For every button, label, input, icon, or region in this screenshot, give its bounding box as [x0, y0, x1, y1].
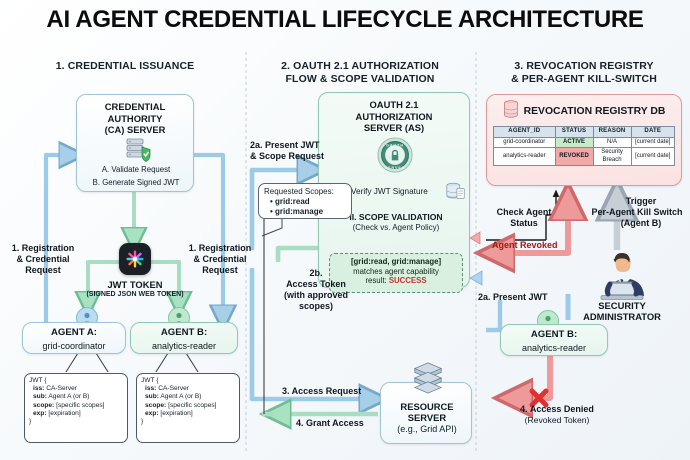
svg-text:OAUTH: OAUTH [386, 143, 404, 147]
ca-step-a: A. Validate Request [77, 165, 195, 174]
agent-b-left-box[interactable]: AGENT B: analytics-reader [130, 322, 238, 354]
jwt-b-exp-key: exp: [145, 410, 159, 417]
column-heading-revocation-line2: & PER-AGENT KILL-SWITCH [486, 73, 682, 86]
cell-reason-1-line2: Breach [595, 157, 630, 165]
label-present-jwt-right: 2a. Present JWT [478, 292, 548, 303]
table-header-row: AGENT_ID STATUS REASON DATE [494, 127, 675, 138]
result-status: SUCCESS [389, 276, 427, 285]
label-present-jwt-scope-request: 2a. Present JWT & Scope Request [250, 140, 362, 162]
column-heading-credential-issuance: 1. CREDENTIAL ISSUANCE [30, 60, 220, 73]
ca-step-b: B. Generate Signed JWT [77, 178, 195, 187]
jwt-b-sub-val: Agent A (or B) [160, 393, 201, 400]
jwt-a-iss-key: iss: [33, 385, 44, 392]
registry-title: REVOCATION REGISTRY DB [524, 106, 666, 117]
jwt-b-sub-key: sub: [145, 393, 159, 400]
revocation-registry-table[interactable]: AGENT_ID STATUS REASON DATE grid-coordin… [493, 126, 675, 166]
agent-a-subtitle: grid-coordinator [23, 341, 125, 351]
requested-scope-0: • grid:read [264, 197, 346, 207]
jwt-a-sub-key: sub: [33, 393, 47, 400]
jwt-a-exp-val: [expiration] [48, 410, 80, 417]
jwt-open-a: JWT { [29, 377, 123, 385]
agent-b-left-title: AGENT B: [131, 327, 237, 339]
agent-b-left-jwt-claims: JWT { iss: CA-Server sub: Agent A (or B)… [136, 373, 240, 443]
result-scopes: [grid:read, grid:manage] [332, 257, 460, 267]
ca-title: CREDENTIAL AUTHORITY (CA) SERVER [81, 101, 189, 136]
jwt-token-subtitle: (SIGNED JSON WEB TOKEN) [65, 291, 205, 298]
agent-b-right-subtitle: analytics-reader [501, 343, 607, 353]
agent-a-box[interactable]: AGENT A: grid-coordinator [22, 322, 126, 354]
jwt-token-title: JWT TOKEN [75, 279, 195, 290]
jwt-a-scope-key: scope: [33, 402, 54, 409]
cell-agent-id-1: analytics-reader [494, 148, 556, 166]
th-agent-id: AGENT_ID [494, 127, 556, 138]
label-check-agent-status: Check Agent Status [488, 207, 560, 229]
column-heading-oauth: 2. OAUTH 2.1 AUTHORIZATION FLOW & SCOPE … [252, 60, 468, 86]
requested-scopes-title: Requested Scopes: [264, 187, 346, 197]
cell-reason-0: N/A [593, 137, 631, 148]
agent-b-left-subtitle: analytics-reader [131, 341, 237, 351]
jwt-a-sub-val: Agent A (or B) [48, 393, 89, 400]
jwt-a-scope-val: [specific scopes] [56, 402, 104, 409]
column-heading-revocation: 3. REVOCATION REGISTRY & PER-AGENT KILL-… [486, 60, 682, 86]
agent-b-right-box[interactable]: AGENT B: analytics-reader [500, 324, 608, 356]
column-heading-oauth-line2: FLOW & SCOPE VALIDATION [252, 73, 468, 86]
column-heading-oauth-line1: 2. OAUTH 2.1 AUTHORIZATION [252, 60, 468, 73]
cell-date-1: [current date] [631, 148, 674, 166]
diagram-canvas: AI AGENT CREDENTIAL LIFECYCLE ARCHITECTU… [0, 0, 690, 460]
label-registration-left: 1. Registration & Credential Request [6, 243, 80, 276]
cell-reason-1-line1: Security [595, 149, 630, 157]
jwt-open-b: JWT { [141, 377, 235, 385]
column-heading-revocation-line1: 3. REVOCATION REGISTRY [486, 60, 682, 73]
resource-server-subtitle: (e.g., Grid API) [381, 424, 473, 434]
person-at-laptop-icon [590, 252, 652, 307]
jwt-b-iss-key: iss: [145, 385, 156, 392]
resource-server-box[interactable]: RESOURCE SERVER (e.g., Grid API) [380, 382, 472, 444]
jwt-close-b: } [141, 418, 235, 426]
agent-a-title: AGENT A: [23, 327, 125, 339]
server-shield-icon [123, 137, 153, 168]
cell-agent-id-0: grid-coordinator [494, 137, 556, 148]
page-title: AI AGENT CREDENTIAL LIFECYCLE ARCHITECTU… [0, 6, 690, 34]
jwt-b-scope-key: scope: [145, 402, 166, 409]
oauth-lock-badge-icon: OAUTH SERVER [377, 137, 413, 178]
label-access-request: 3. Access Request [282, 386, 361, 397]
security-administrator-label: SECURITY ADMINISTRATOR [562, 300, 682, 322]
jwt-a-exp-key: exp: [33, 410, 47, 417]
label-access-token: 2b. Access Token (with approved scopes) [268, 268, 364, 312]
table-row[interactable]: analytics-reader REVOKED Security Breach… [494, 148, 675, 166]
table-row[interactable]: grid-coordinator ACTIVE N/A [current dat… [494, 137, 675, 148]
th-date: DATE [631, 127, 674, 138]
label-grant-access: 4. Grant Access [296, 418, 364, 429]
requested-scopes-callout: Requested Scopes: • grid:read • grid:man… [258, 183, 352, 219]
label-trigger-kill-switch: Trigger Per-Agent Kill Switch (Agent B) [592, 196, 690, 229]
access-denied-line1: 4. Access Denied [492, 404, 622, 415]
label-agent-revoked: Agent Revoked [492, 240, 558, 251]
jwt-token-icon [119, 243, 151, 275]
agent-b-right-title: AGENT B: [501, 329, 607, 341]
th-reason: REASON [593, 127, 631, 138]
label-access-denied: 4. Access Denied (Revoked Token) [492, 404, 622, 425]
jwt-close-a: } [29, 418, 123, 426]
status-badge-revoked: REVOKED [555, 148, 593, 166]
oauth-title: OAUTH 2.1 AUTHORIZATION SERVER (AS) [319, 99, 469, 134]
th-status: STATUS [555, 127, 593, 138]
oauth-step-2-subtitle: (Check vs. Agent Policy) [323, 223, 469, 232]
cell-reason-1: Security Breach [593, 148, 631, 166]
access-denied-line2: (Revoked Token) [492, 415, 622, 425]
stacked-server-icon [409, 361, 447, 400]
jwt-a-iss-val: CA-Server [46, 385, 77, 392]
credential-authority-server-box[interactable]: CREDENTIAL AUTHORITY (CA) SERVER A. Vali… [76, 94, 194, 192]
result-prefix: result: [365, 276, 388, 285]
jwt-b-scope-val: [specific scopes] [168, 402, 216, 409]
status-badge-active: ACTIVE [555, 137, 593, 148]
revocation-registry-db-box[interactable]: REVOCATION REGISTRY DB AGENT_ID STATUS R… [486, 94, 682, 186]
cell-date-0: [current date] [631, 137, 674, 148]
jwt-b-exp-val: [expiration] [160, 410, 192, 417]
database-icon [503, 100, 519, 123]
label-registration-right: 1. Registration & Credential Request [182, 243, 258, 276]
jwt-b-iss-val: CA-Server [158, 385, 189, 392]
resource-server-title: RESOURCE SERVER [381, 401, 473, 423]
agent-a-jwt-claims: JWT { iss: CA-Server sub: Agent A (or B)… [24, 373, 128, 443]
svg-text:SERVER: SERVER [385, 166, 406, 170]
database-policy-icon [445, 181, 467, 208]
requested-scope-1: • grid:manage [264, 207, 346, 217]
